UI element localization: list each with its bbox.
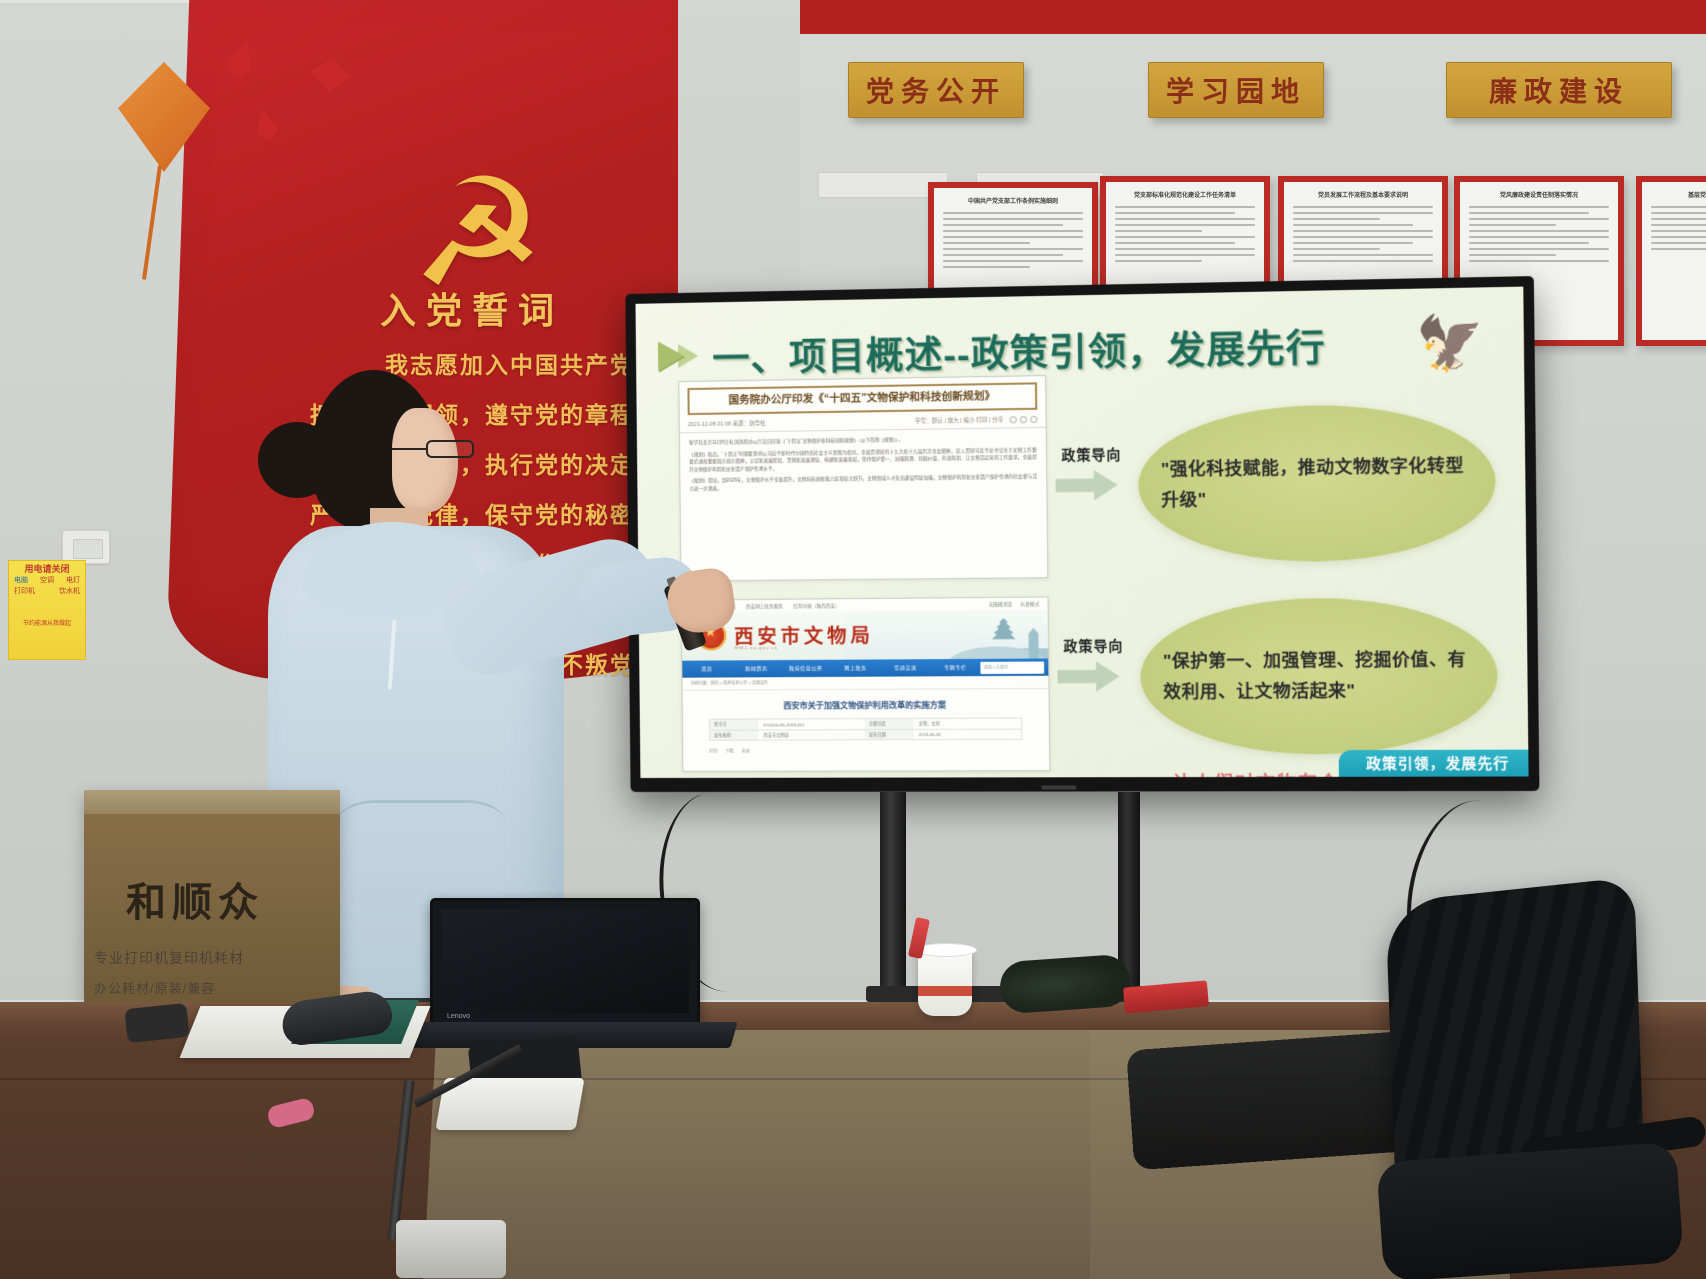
board-banner-plate: 学习园地 [1148, 62, 1324, 118]
site-nav-item[interactable]: 专题专栏 [930, 664, 980, 671]
poster-title: 用电请关闭 [12, 564, 82, 575]
board-banner-label: 廉政建设 [1489, 70, 1629, 110]
display-screen[interactable]: 一、项目概述--政策引领，发展先行 🦅 国务院办公厅印发《“十四五”文物保护和科… [635, 287, 1528, 778]
table-cell-value: 西安市文物局 [758, 732, 864, 738]
slide-canvas: 一、项目概述--政策引领，发展先行 🦅 国务院办公厅印发《“十四五”文物保护和科… [635, 287, 1528, 778]
policy-direction-label: 政策导向 [1061, 443, 1121, 464]
share-icons [1010, 415, 1038, 423]
slide-title: 一、项目概述--政策引领，发展先行 [712, 317, 1326, 382]
site-pinyin: WWJ.xa.gov.cn [734, 645, 778, 650]
site-document-title: 西安市关于加强文物保护利用改革的实施方案 [683, 689, 1049, 719]
site-accessibility-link: 无障碍浏览 [989, 602, 1013, 608]
share-circle-icon [1030, 415, 1037, 422]
cardboard-box: 和顺众 [84, 790, 340, 1005]
right-arrow-icon [1055, 470, 1117, 501]
laptop-lid: Lenovo [430, 898, 700, 1026]
table-cell-label: 索引号 [710, 720, 758, 730]
board-banner-plate: 党务公开 [848, 62, 1024, 118]
crane-icon: 🦅 [1415, 316, 1496, 381]
office-chair[interactable] [1380, 890, 1706, 1279]
document-paragraph: 《规划》指出，“十四五”时期要坚持以习近平新时代中国特色社会主义思想为指导，全面… [689, 446, 1037, 473]
display-stand-post [880, 792, 906, 1002]
pagoda-icon [986, 618, 1021, 659]
document-camera-base [396, 1220, 506, 1278]
display-brand-mark [1041, 785, 1076, 789]
dark-desk-item [124, 1003, 189, 1043]
policy-quote-text: "保护第一、加强管理、挖掘价值、有效利用、让文物活起来" [1140, 644, 1498, 707]
paper-cup[interactable] [918, 948, 972, 1016]
notice-sheet-title: 基层党组织组织生活制度 [1651, 192, 1706, 201]
board-banner-label: 学习园地 [1166, 70, 1306, 110]
site-search-input[interactable]: 请输入关键词 [980, 661, 1044, 674]
slide-footer-tab: 政策引领，发展先行 [1339, 750, 1529, 777]
presentation-display[interactable]: 一、项目概述--政策引领，发展先行 🦅 国务院办公厅印发《“十四五”文物保护和科… [625, 276, 1539, 792]
glasses-icon [426, 440, 474, 458]
slide-title-row: 一、项目概述--政策引领，发展先行 [658, 317, 1326, 383]
site-nav-item[interactable]: 互动交流 [880, 664, 930, 671]
notice-sheet-title: 党支部标准化规范化建设工作任务清单 [1115, 192, 1255, 201]
notice-sheet: 基层党组织组织生活制度 [1642, 182, 1706, 340]
light-switch-plate[interactable] [62, 530, 110, 564]
notice-sheet-title: 中国共产党支部工作条例实施细则 [943, 198, 1083, 207]
face [392, 408, 458, 512]
right-arrow-icon [1057, 661, 1119, 692]
policy-direction-label: 政策导向 [1063, 635, 1123, 656]
box-brand-text: 和顺众 [126, 870, 264, 928]
notice-sheet-title: 党风廉政建设责任制落实情况 [1469, 192, 1609, 201]
chair-seat [1376, 1142, 1684, 1279]
triangle-bullet-icon [658, 341, 684, 371]
notice-sheet-frame: 基层党组织组织生活制度 [1636, 176, 1706, 346]
cup-band [918, 986, 972, 996]
cable-bundle [998, 954, 1131, 1015]
policy-quote-text: "强化科技赋能，推动文物数字化转型升级" [1138, 450, 1496, 516]
site-header: 西安市文物局 WWJ.xa.gov.cn [682, 610, 1048, 661]
site-nav-item[interactable]: 首页 [682, 665, 731, 672]
site-breadcrumb-item: 西安网上政务服务 [746, 604, 783, 610]
document-screenshot-xian-bureau: 西安人民政府门户网站 西安网上政务服务 信用中国（陕西西安） 无障碍浏览 长者模… [681, 596, 1051, 771]
energy-saving-poster: 用电请关闭 电脑空调电灯 打印机饮水机 节约能源从我做起 [8, 560, 86, 660]
hoodie-pocket [336, 800, 506, 886]
oath-title: 入党誓词 [380, 282, 580, 334]
document-paragraph: 新华社北京11月8日电 国务院办公厅近日印发《“十四五”文物保护和科技创新规划》… [689, 434, 1037, 447]
notice-sheet-title: 党员发展工作流程及基本要求说明 [1293, 192, 1433, 201]
box-tape [84, 790, 340, 814]
board-banner-plate: 廉政建设 [1446, 62, 1672, 118]
table-cell-value: 文物、文化 [913, 721, 1021, 727]
document-meta-left: 2021-11-08 21:08 来源：新华社 [688, 419, 766, 428]
board-red-top-strip [800, 0, 1706, 34]
document-headline: 国务院办公厅印发《“十四五”文物保护和科技创新规划》 [687, 382, 1037, 415]
laptop-brand-label: Lenovo [447, 1013, 470, 1020]
share-circle-icon [1010, 416, 1017, 423]
site-metadata-table: 索引号 610100-GK-2019-001 主题分类 文物、文化 发布机构 西… [709, 717, 1022, 740]
table-cell-label: 主题分类 [865, 719, 914, 729]
download-link[interactable]: 下载 [725, 749, 733, 755]
print-link[interactable]: 打印 [709, 749, 717, 755]
site-nav-item[interactable]: 政府信息公开 [781, 665, 831, 672]
document-screenshot-guowuyuan: 国务院办公厅印发《“十四五”文物保护和科技创新规划》 2021-11-08 21… [678, 375, 1048, 581]
box-sub-text: 专业打印机复印机耗材 [94, 948, 244, 968]
site-footer-actions: 打印 下载 关闭 [683, 740, 1049, 755]
board-banner-label: 党务公开 [866, 70, 1006, 110]
site-nav[interactable]: 首页 新闻资讯 政府信息公开 网上政务 互动交流 专题专栏 请输入关键词 [682, 658, 1048, 677]
site-breadcrumb-item: 信用中国（陕西西安） [793, 603, 840, 609]
table-row: 发布机构 西安市文物局 发布日期 2019-06-18 [709, 729, 1022, 741]
box-sub-text-2: 办公耗材/原装/兼容 [94, 978, 215, 997]
policy-quote-bubble: "强化科技赋能，推动文物数字化转型升级" [1137, 403, 1496, 563]
table-cell-label: 发布日期 [865, 730, 914, 739]
site-elder-mode-link: 长者模式 [1020, 602, 1039, 608]
share-circle-icon [1020, 415, 1027, 422]
close-link[interactable]: 关闭 [741, 749, 749, 755]
document-paragraph: 《规划》提出，到2025年，文物保护水平全面提升，文物科技创新能力实现较大跃升，… [689, 473, 1037, 493]
room-scene: ☭ 入党誓词 我志愿加入中国共产党， 拥护党的纲领，遵守党的章程， 履行党员义务… [0, 0, 1706, 1279]
laptop[interactable]: Lenovo [430, 898, 700, 1026]
tower-icon [1025, 628, 1042, 659]
laptop-screen[interactable] [441, 909, 689, 1013]
document-meta-right: 字号：默认 | 放大 | 缩小 打印 | 分享 [915, 415, 1004, 424]
site-nav-item[interactable]: 新闻资讯 [732, 665, 781, 672]
policy-quote-bubble: "保护第一、加强管理、挖掘价值、有效利用、让文物活起来" [1140, 597, 1499, 755]
table-cell-value: 610100-GK-2019-001 [758, 722, 864, 727]
table-cell-value: 2019-06-18 [914, 732, 1022, 737]
document-body: 新华社北京11月8日电 国务院办公厅近日印发《“十四五”文物保护和科技创新规划》… [680, 428, 1047, 502]
poster-footer: 节约能源从我做起 [12, 619, 82, 630]
site-nav-item[interactable]: 网上政务 [831, 665, 881, 672]
table-cell-label: 发布机构 [710, 731, 758, 740]
